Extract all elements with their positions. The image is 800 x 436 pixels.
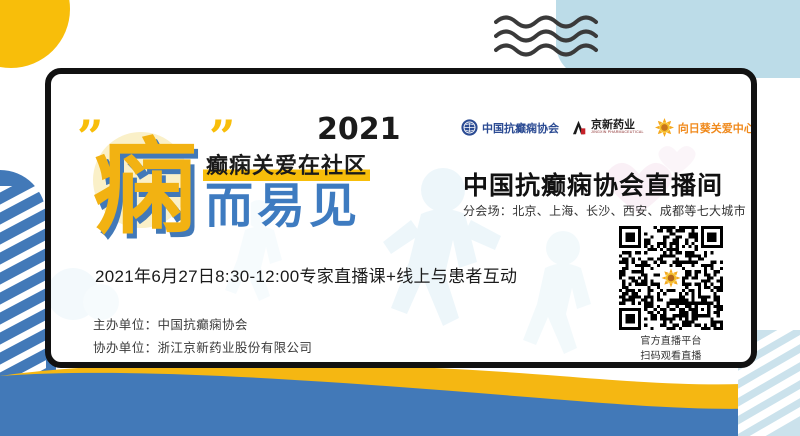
schedule-line: 2021年6月27日8:30-12:00专家直播课+线上与患者互动 xyxy=(95,262,517,287)
qr-caption-line2: 扫码观看直播 xyxy=(619,350,723,365)
jingxin-logo-icon xyxy=(570,119,587,136)
caae-emblem-icon xyxy=(461,119,478,136)
left-blue-block xyxy=(0,170,46,436)
venues-line: 分会场：北京、上海、长沙、西安、成都等七大城市 xyxy=(463,202,746,219)
logo-sunflower: 向日葵关爱中心 xyxy=(655,118,755,137)
logo-jingxin: 京新药业 JINGXIN PHARMACEUTICAL xyxy=(570,119,644,136)
sunflower-icon xyxy=(655,118,674,137)
sunflower-icon xyxy=(662,269,681,288)
headline-big-character: 痫 xyxy=(93,136,197,240)
yellow-circle-decoration xyxy=(0,0,70,68)
headline-tagline: 而易见 xyxy=(205,182,361,230)
logo-caae: 中国抗癫痫协会 xyxy=(461,119,559,136)
qr-caption-line1: 官方直播平台 xyxy=(619,335,723,350)
poster-frame: ” ” 痫 2021 癫痫关爱在社区 而易见 中国抗癫痫协会 xyxy=(45,68,757,368)
sponsor-logo-row: 中国抗癫痫协会 京新药业 JINGXIN PHARMACEUTICAL xyxy=(461,118,755,137)
qr-code-image[interactable] xyxy=(619,226,723,330)
bottom-blue-wave xyxy=(0,364,800,436)
top-right-blue-panel xyxy=(556,0,800,78)
coorganizer-line: 协办单位：浙江京新药业股份有限公司 xyxy=(93,337,312,360)
live-room-title: 中国抗癫痫协会直播间 xyxy=(463,166,723,202)
wavy-lines-icon xyxy=(494,14,614,60)
host-line: 主办单位：中国抗癫痫协会 xyxy=(93,314,312,337)
qr-code-block[interactable]: 官方直播平台 扫码观看直播 xyxy=(619,226,723,364)
logo-caae-label: 中国抗癫痫协会 xyxy=(482,120,559,136)
organizers-block: 主办单位：中国抗癫痫协会 协办单位：浙江京新药业股份有限公司 xyxy=(93,314,312,360)
poster-canvas: ” ” 痫 2021 癫痫关爱在社区 而易见 中国抗癫痫协会 xyxy=(0,0,800,436)
qr-center-logo xyxy=(661,268,682,289)
logo-jingxin-label: 京新药业 JINGXIN PHARMACEUTICAL xyxy=(591,120,644,135)
headline-campaign: 癫痫关爱在社区 xyxy=(203,147,370,181)
left-white-stripes xyxy=(0,186,46,436)
headline-year: 2021 xyxy=(317,112,401,147)
logo-sunflower-label: 向日葵关爱中心 xyxy=(678,120,755,136)
qr-caption: 官方直播平台 扫码观看直播 xyxy=(619,335,723,364)
